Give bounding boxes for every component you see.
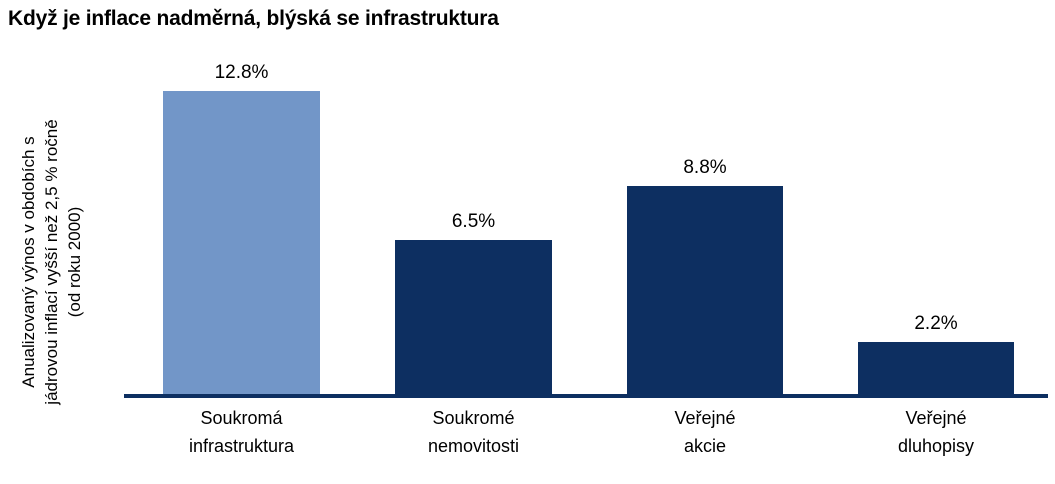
x-tick-line-2: akcie <box>627 432 783 460</box>
x-tick-label-verejne-akcie: Veřejné akcie <box>627 404 783 460</box>
bar-group-verejne-dluhopisy: 2.2% <box>858 40 1014 394</box>
x-tick-label-soukroma-infrastruktura: Soukromá infrastruktura <box>163 404 320 460</box>
x-tick-line-1: Soukromé <box>395 404 552 432</box>
page-title: Když je inflace nadměrná, blýská se infr… <box>8 6 1048 32</box>
bar-group-verejne-akcie: 8.8% <box>627 40 783 394</box>
bar-value-label: 12.8% <box>163 62 320 84</box>
bar-group-soukrome-nemovitosti: 6.5% <box>395 40 552 394</box>
x-tick-label-verejne-dluhopisy: Veřejné dluhopisy <box>858 404 1014 460</box>
x-axis-line <box>124 394 1048 398</box>
x-tick-line-2: infrastruktura <box>163 432 320 460</box>
bar-chart: Když je inflace nadměrná, blýská se infr… <box>0 0 1055 484</box>
bar-group-soukroma-infrastruktura: 12.8% <box>163 40 320 394</box>
plot-area: 12.8% 6.5% 8.8% 2.2% <box>124 40 1048 398</box>
x-tick-label-soukrome-nemovitosti: Soukromé nemovitosti <box>395 404 552 460</box>
y-axis-title-line-1: Anualizovaný výnos v obdobích s <box>17 136 40 387</box>
bar-soukroma-infrastruktura[interactable] <box>163 91 320 394</box>
bar-verejne-akcie[interactable] <box>627 186 783 394</box>
x-tick-line-1: Soukromá <box>163 404 320 432</box>
y-axis-title-line-3: (od roku 2000) <box>63 207 86 318</box>
y-axis-title-line-2: jádrovou inflací vyšší než 2,5 % ročně <box>40 119 63 404</box>
x-tick-line-1: Veřejné <box>858 404 1014 432</box>
bar-value-label: 6.5% <box>395 211 552 233</box>
x-axis-category-labels: Soukromá infrastruktura Soukromé nemovit… <box>124 404 1048 480</box>
bar-value-label: 2.2% <box>858 313 1014 335</box>
bar-soukrome-nemovitosti[interactable] <box>395 240 552 394</box>
bar-verejne-dluhopisy[interactable] <box>858 342 1014 394</box>
y-axis-title: Anualizovaný výnos v obdobích s jádrovou… <box>11 57 91 467</box>
x-tick-line-1: Veřejné <box>627 404 783 432</box>
x-tick-line-2: nemovitosti <box>395 432 552 460</box>
bar-value-label: 8.8% <box>627 157 783 179</box>
x-tick-line-2: dluhopisy <box>858 432 1014 460</box>
